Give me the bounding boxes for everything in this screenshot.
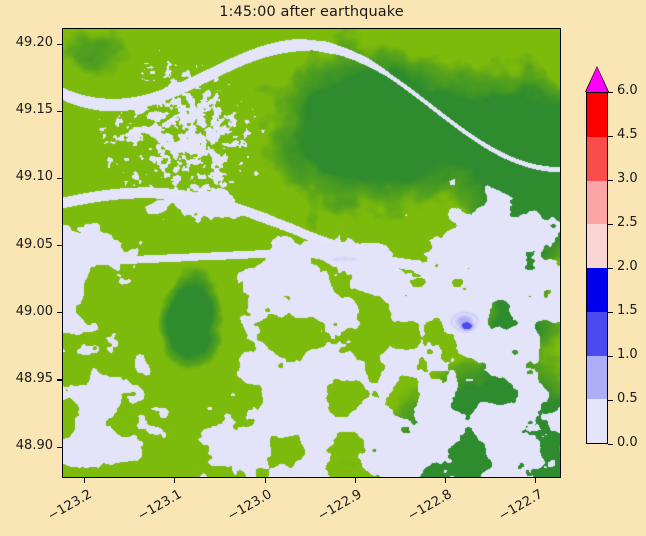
colorbar-tick-mark bbox=[608, 268, 613, 269]
x-tick-mark bbox=[265, 478, 266, 483]
colorbar-tick-mark bbox=[608, 180, 613, 181]
x-tick-label: −122.8 bbox=[396, 487, 455, 530]
colorbar-tick-label: 1.0 bbox=[617, 347, 638, 362]
colorbar-segment bbox=[587, 93, 607, 137]
x-tick-label: −122.9 bbox=[305, 487, 364, 530]
colorbar-segment bbox=[587, 356, 607, 400]
colorbar-tick-mark bbox=[608, 312, 613, 313]
map-axes[interactable] bbox=[62, 28, 561, 478]
y-tick-label: 48.90 bbox=[0, 438, 53, 453]
x-tick-mark bbox=[445, 478, 446, 483]
colorbar-segment bbox=[587, 268, 607, 312]
x-tick-label: −123.0 bbox=[215, 487, 274, 530]
x-tick-mark bbox=[355, 478, 356, 483]
colorbar-tick-mark bbox=[608, 356, 613, 357]
y-tick-mark bbox=[57, 312, 62, 313]
colorbar-tick-label: 2.5 bbox=[617, 215, 638, 230]
y-tick-label: 49.10 bbox=[0, 169, 53, 184]
colorbar-extend-arrow-icon bbox=[586, 67, 608, 92]
y-tick-mark bbox=[57, 447, 62, 448]
x-tick-label: −123.2 bbox=[35, 487, 94, 530]
x-tick-mark bbox=[535, 478, 536, 483]
y-tick-label: 49.05 bbox=[0, 237, 53, 252]
y-tick-mark bbox=[57, 379, 62, 380]
colorbar-tick-label: 0.0 bbox=[617, 435, 638, 450]
colorbar[interactable]: 0.00.51.01.52.02.53.04.56.0 bbox=[586, 92, 608, 444]
colorbar-tick-mark bbox=[608, 400, 613, 401]
x-tick-label: −123.1 bbox=[125, 487, 184, 530]
y-tick-label: 48.95 bbox=[0, 371, 53, 386]
x-tick-label: −122.7 bbox=[486, 487, 545, 530]
colorbar-tick-label: 0.5 bbox=[617, 391, 638, 406]
y-tick-label: 49.15 bbox=[0, 102, 53, 117]
figure-canvas: 1:45:00 after earthquake 0.00.51.01.52.0… bbox=[0, 0, 646, 536]
inundation-heatmap bbox=[63, 29, 561, 478]
y-tick-mark bbox=[57, 245, 62, 246]
colorbar-tick-label: 1.5 bbox=[617, 303, 638, 318]
colorbar-tick-label: 3.0 bbox=[617, 171, 638, 186]
colorbar-tick-mark bbox=[608, 92, 613, 93]
y-tick-mark bbox=[57, 178, 62, 179]
y-tick-label: 49.20 bbox=[0, 35, 53, 50]
colorbar-tick-label: 2.0 bbox=[617, 259, 638, 274]
colorbar-segment bbox=[587, 137, 607, 181]
colorbar-tick-mark bbox=[608, 224, 613, 225]
colorbar-segment bbox=[587, 181, 607, 225]
y-tick-label: 49.00 bbox=[0, 304, 53, 319]
y-tick-mark bbox=[57, 111, 62, 112]
colorbar-segment bbox=[587, 224, 607, 268]
colorbar-tick-label: 6.0 bbox=[617, 83, 638, 98]
x-tick-mark bbox=[174, 478, 175, 483]
plot-title: 1:45:00 after earthquake bbox=[62, 4, 561, 20]
y-tick-mark bbox=[57, 44, 62, 45]
colorbar-tick-mark bbox=[608, 444, 613, 445]
colorbar-tick-label: 4.5 bbox=[617, 127, 638, 142]
colorbar-tick-mark bbox=[608, 136, 613, 137]
x-tick-mark bbox=[84, 478, 85, 483]
colorbar-gradient bbox=[586, 92, 608, 444]
colorbar-segment bbox=[587, 399, 607, 443]
colorbar-segment bbox=[587, 312, 607, 356]
